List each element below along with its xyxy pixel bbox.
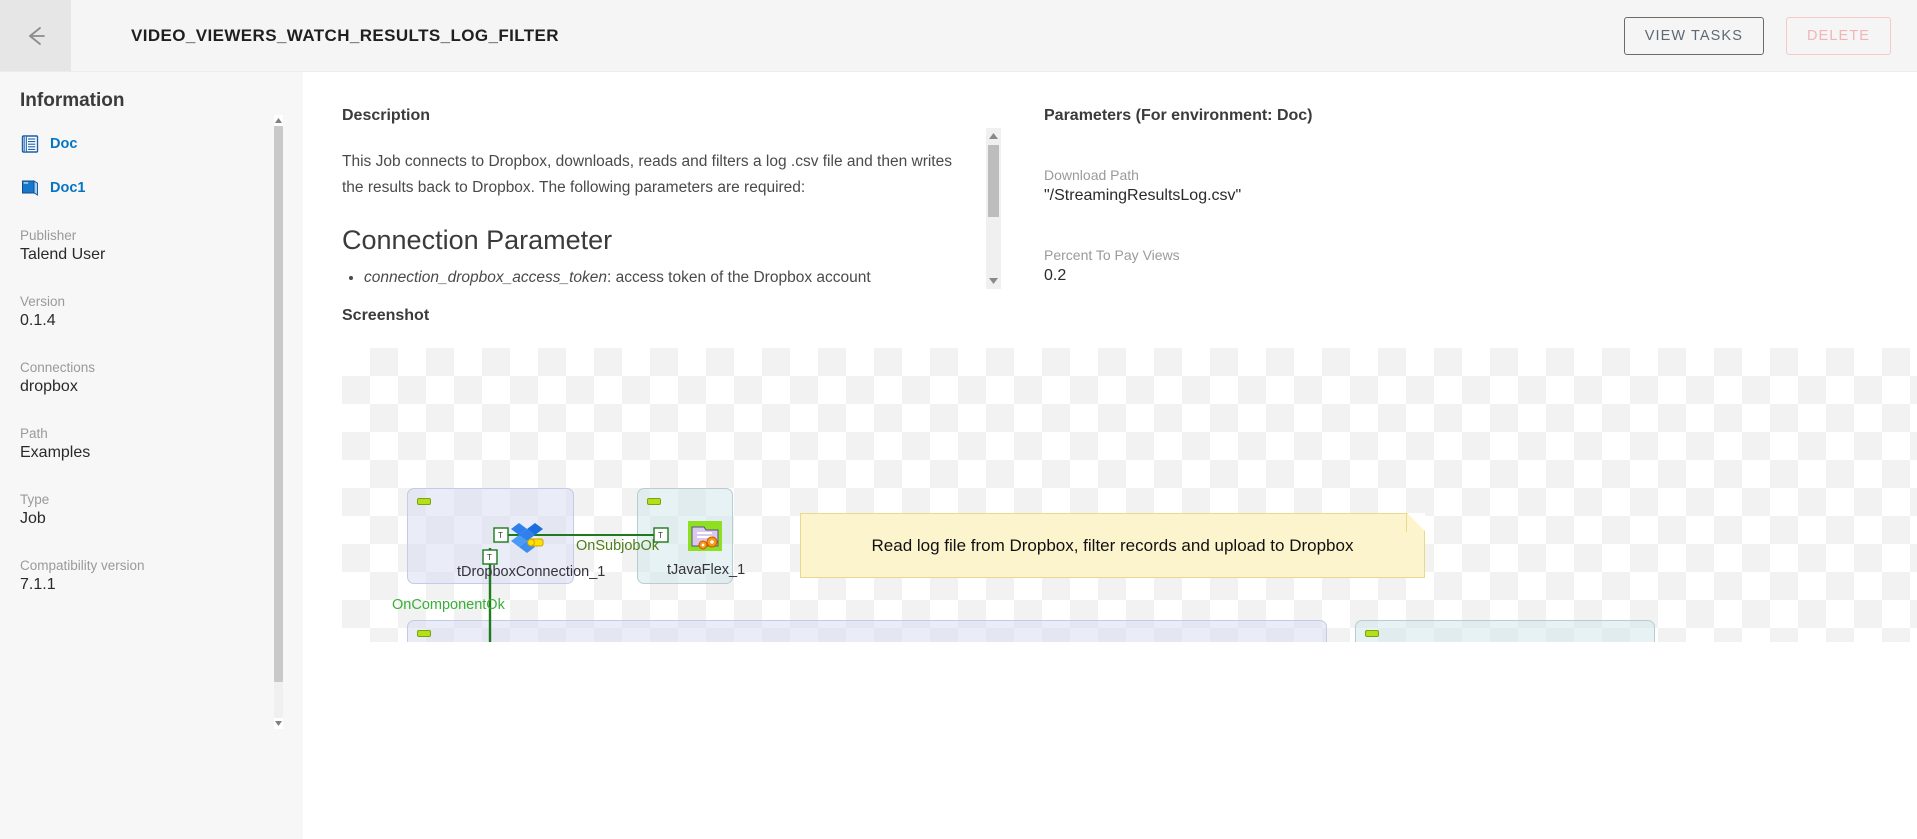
meta-type: Type Job (20, 492, 303, 528)
component-tdropboxconnection-1[interactable]: tDropboxConnection_1 (457, 521, 605, 580)
parameters-section: Parameters (For environment: Doc) Downlo… (1044, 107, 1564, 285)
bullet-term: connection_dropbox_access_token (364, 269, 607, 286)
parameters-heading: Parameters (For environment: Doc) (1044, 107, 1564, 125)
connection-lines (342, 348, 1917, 642)
connector-ports: T T T T D D D D D M D D D D T T D (342, 348, 1917, 642)
top-bar: VIDEO_VIEWERS_WATCH_RESULTS_LOG_FILTER V… (0, 0, 1917, 71)
view-tasks-button[interactable]: VIEW TASKS (1624, 17, 1764, 55)
meta-label: Publisher (20, 228, 303, 243)
screenshot-heading: Screenshot (342, 307, 429, 325)
javaflex-icon (688, 521, 724, 560)
meta-value: Job (20, 510, 303, 528)
parameter-value: "/StreamingResultsLog.csv" (1044, 187, 1564, 205)
main-content: Description This Job connects to Dropbox… (303, 71, 1917, 839)
arrow-left-icon (23, 23, 49, 49)
subjob-collapse-icon[interactable] (417, 498, 431, 505)
parameter-download-path: Download Path "/StreamingResultsLog.csv" (1044, 167, 1564, 205)
description-heading: Description (342, 107, 962, 125)
bullet-rest: : access token of the Dropbox account (607, 269, 871, 286)
meta-value: 0.1.4 (20, 312, 303, 330)
note-text: Read log file from Dropbox, filter recor… (872, 536, 1354, 556)
meta-value: Talend User (20, 246, 303, 264)
diagram-note: Read log file from Dropbox, filter recor… (800, 513, 1425, 578)
scroll-down-icon[interactable] (986, 274, 1001, 288)
sidebar-item-doc1[interactable]: Doc1 (20, 178, 303, 198)
meta-value: Examples (20, 444, 303, 462)
sidebar-item-label: Doc (50, 136, 77, 152)
component-tjavaflex-1[interactable]: tJavaFlex_1 (667, 521, 745, 578)
meta-label: Path (20, 426, 303, 441)
subjob-collapse-icon[interactable] (647, 498, 661, 505)
subjob-javaflex2 (1355, 620, 1655, 642)
top-bar-actions: VIEW TASKS DELETE (1624, 17, 1891, 55)
scroll-down-icon[interactable] (274, 718, 283, 729)
page-title: VIDEO_VIEWERS_WATCH_RESULTS_LOG_FILTER (131, 26, 559, 46)
meta-compatibility-version: Compatibility version 7.1.1 (20, 558, 303, 594)
link-label-oncomponentok: OnComponentOk (392, 597, 505, 613)
dropbox-key-icon (509, 521, 553, 562)
list-item: connection_dropbox_access_token: access … (364, 265, 962, 291)
scrollbar-thumb[interactable] (988, 145, 999, 217)
component-label: tDropboxConnection_1 (457, 564, 605, 580)
meta-value: dropbox (20, 378, 303, 396)
note-fold-edge (1406, 513, 1425, 532)
back-button[interactable] (0, 0, 71, 71)
information-sidebar: Information Doc (0, 71, 303, 839)
description-subheading: Connection Parameter (342, 223, 962, 257)
job-diagram-canvas: OnSubjobOk OnComponentOk row1 (Main) Ite… (342, 348, 1917, 642)
component-label: tJavaFlex_1 (667, 562, 745, 578)
meta-label: Connections (20, 360, 303, 375)
sidebar-item-label: Doc1 (50, 180, 85, 196)
sidebar-item-doc[interactable]: Doc (20, 134, 303, 154)
meta-path: Path Examples (20, 426, 303, 462)
scroll-up-icon[interactable] (986, 129, 1001, 143)
meta-label: Version (20, 294, 303, 309)
scroll-up-icon[interactable] (274, 115, 283, 126)
parameter-value: 0.2 (1044, 267, 1564, 285)
sidebar-scrollbar[interactable] (274, 115, 283, 729)
sidebar-title: Information (20, 90, 303, 112)
book-icon (20, 178, 40, 198)
description-paragraph: This Job connects to Dropbox, downloads,… (342, 149, 962, 201)
description-bullet-list: connection_dropbox_access_token: access … (342, 265, 962, 291)
scrollbar-thumb[interactable] (274, 126, 283, 682)
meta-publisher: Publisher Talend User (20, 228, 303, 264)
parameter-label: Percent To Pay Views (1044, 247, 1564, 263)
subjob-main-flow (407, 620, 1327, 642)
meta-version: Version 0.1.4 (20, 294, 303, 330)
meta-value: 7.1.1 (20, 576, 303, 594)
parameter-label: Download Path (1044, 167, 1564, 183)
delete-button[interactable]: DELETE (1786, 17, 1891, 55)
meta-label: Compatibility version (20, 558, 303, 573)
document-lines-icon (20, 134, 40, 154)
meta-label: Type (20, 492, 303, 507)
description-section: Description This Job connects to Dropbox… (342, 107, 962, 309)
description-body: This Job connects to Dropbox, downloads,… (342, 149, 962, 309)
meta-connections: Connections dropbox (20, 360, 303, 396)
subjob-collapse-icon[interactable] (1365, 630, 1379, 637)
subjob-collapse-icon[interactable] (417, 630, 431, 637)
description-scrollbar[interactable] (986, 128, 1001, 289)
parameter-percent-to-pay-views: Percent To Pay Views 0.2 (1044, 247, 1564, 285)
